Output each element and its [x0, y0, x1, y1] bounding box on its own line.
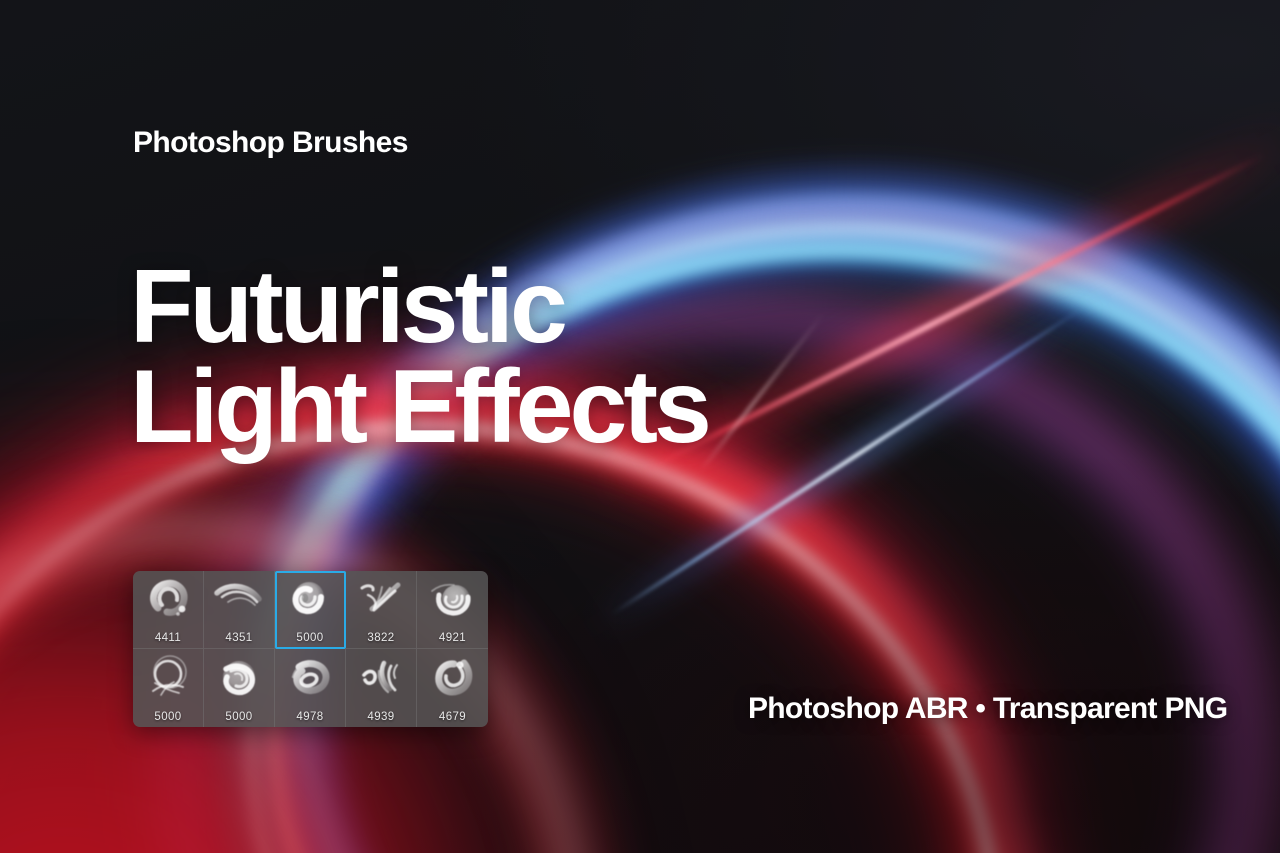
brush-comet-arc-icon	[212, 575, 266, 621]
brush-palette-panel[interactable]: 4411 4351 5000 3822 4921 5000 5000 4978	[133, 571, 488, 727]
brush-double-loop-icon	[283, 653, 337, 699]
brush-size-label: 4939	[367, 712, 394, 724]
brush-size-label: 4679	[439, 712, 466, 724]
brush-swirl-ball-icon	[141, 575, 195, 621]
brush-cell[interactable]: 4679	[417, 649, 488, 727]
format-tagline: Photoshop ABR • Transparent PNG	[748, 692, 1227, 726]
brush-cell[interactable]: 5000	[133, 649, 204, 727]
brush-vortex-eye-icon	[426, 575, 480, 621]
brush-flame-wisp-icon	[354, 653, 408, 699]
headline-line-2: Light Effects	[130, 358, 708, 458]
brush-size-label: 4411	[155, 633, 181, 645]
page-title: Futuristic Light Effects	[130, 258, 708, 458]
brush-cell[interactable]: 4978	[275, 649, 346, 727]
brush-cell[interactable]: 3822	[346, 571, 417, 649]
brush-cell[interactable]: 4939	[346, 649, 417, 727]
poster-canvas: Photoshop Brushes Futuristic Light Effec…	[0, 0, 1280, 853]
brush-cell-selected[interactable]: 5000	[275, 571, 346, 649]
brush-size-label: 4351	[225, 633, 252, 645]
brush-spiral-shell-icon	[283, 575, 337, 621]
eyebrow-text: Photoshop Brushes	[133, 126, 408, 159]
brush-feather-fan-icon	[354, 575, 408, 621]
brush-size-label: 3822	[367, 633, 394, 645]
brush-size-label: 4978	[296, 712, 323, 724]
brush-cell[interactable]: 4411	[133, 571, 204, 649]
brush-cell[interactable]: 4921	[417, 571, 488, 649]
brush-size-label: 5000	[296, 633, 323, 645]
headline-line-1: Futuristic	[130, 258, 708, 358]
brush-cell[interactable]: 5000	[204, 649, 275, 727]
brush-size-label: 5000	[225, 712, 252, 724]
brush-cell[interactable]: 4351	[204, 571, 275, 649]
brush-spiral-wave-icon	[212, 653, 266, 699]
brush-crescent-swirl-icon	[426, 653, 480, 699]
poster-content: Photoshop Brushes Futuristic Light Effec…	[0, 0, 1280, 853]
brush-ring-burst-icon	[141, 653, 195, 699]
brush-size-label: 5000	[154, 712, 181, 724]
brush-size-label: 4921	[439, 633, 466, 645]
